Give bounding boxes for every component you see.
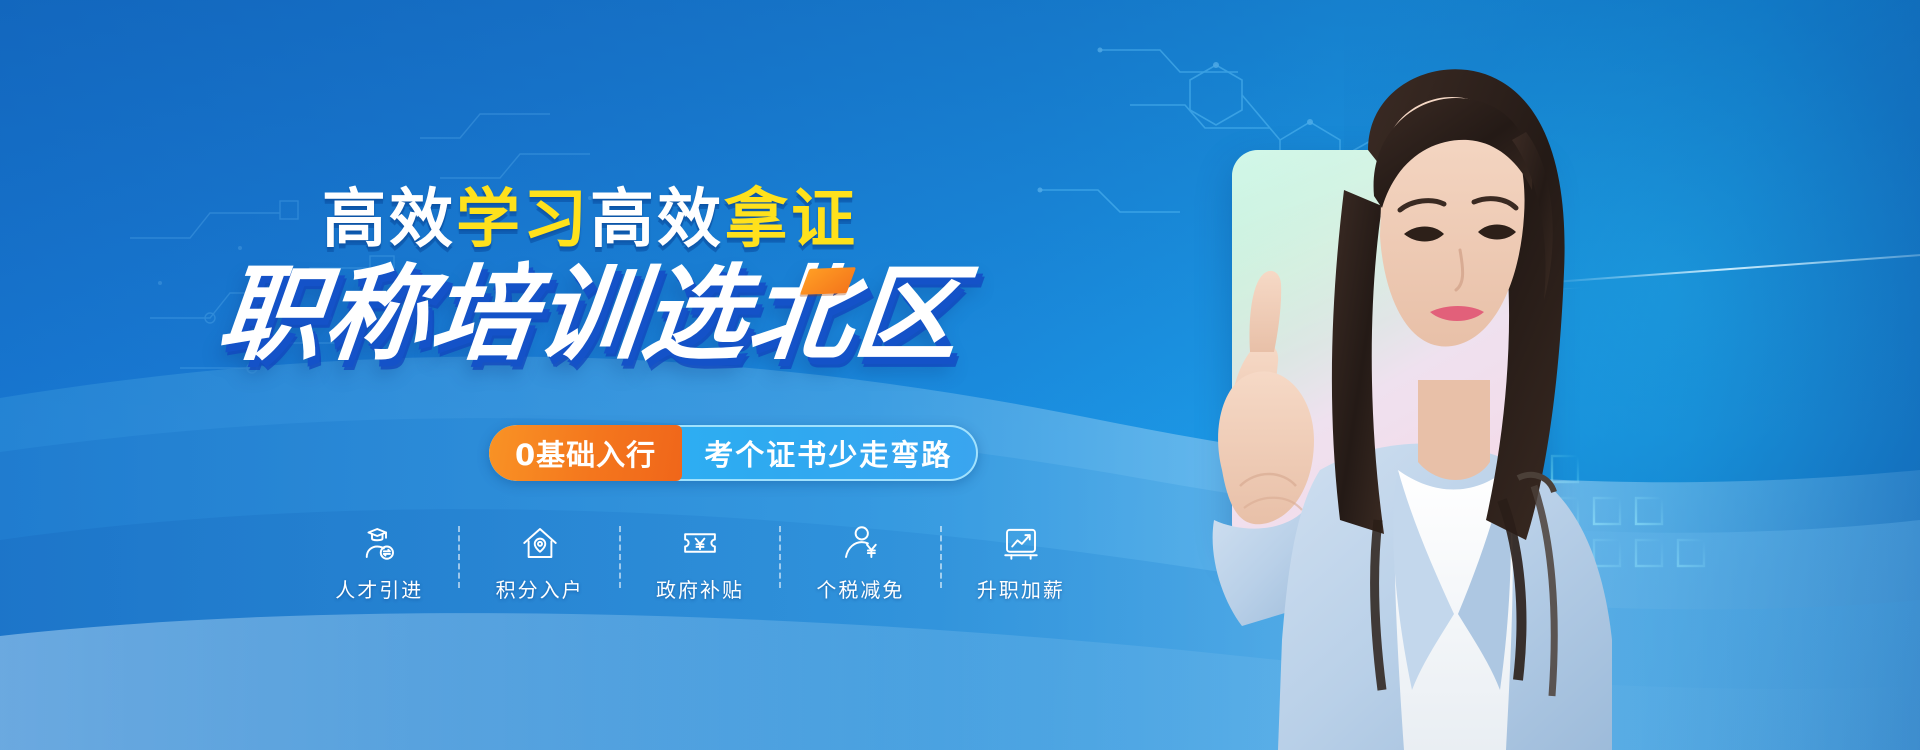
- badge-right-label: 考个证书少走弯路: [682, 425, 978, 481]
- coupon-yuan-icon: [679, 522, 721, 564]
- house-pin-icon: [519, 522, 561, 564]
- feature-label: 人才引进: [335, 574, 423, 603]
- feature-item-gov-subsidy[interactable]: 政府补贴: [621, 522, 779, 603]
- headline-seg-4: 拿证: [724, 183, 858, 257]
- feature-label: 政府补贴: [656, 574, 744, 603]
- chart-board-icon: [1000, 522, 1042, 564]
- feature-label: 积分入户: [496, 574, 584, 603]
- badge-left-label: 0基础入行: [489, 425, 682, 481]
- headline-line-1: 高效学习高效拿证: [0, 188, 1180, 252]
- headline-main-text: 职称培训选北区: [214, 262, 967, 366]
- feature-label: 个税减免: [816, 574, 904, 603]
- headline-seg-2: 学习: [456, 183, 590, 257]
- copy-block: 高效学习高效拿证 职称培训选北区 0基础入行 考个证书少走弯路: [0, 0, 1180, 750]
- promo-badge[interactable]: 0基础入行 考个证书少走弯路: [489, 425, 978, 481]
- headline-seg-3: 高效: [590, 183, 724, 257]
- feature-list: 人才引进 积分入户: [300, 522, 1100, 632]
- promo-banner: 高效学习高效拿证 职称培训选北区 0基础入行 考个证书少走弯路: [0, 0, 1920, 750]
- graduate-person-icon: [358, 522, 400, 564]
- feature-item-promotion-raise[interactable]: 升职加薪: [942, 522, 1100, 603]
- headline-line-2: 职称培训选北区: [0, 262, 1180, 366]
- feature-label: 升职加薪: [977, 574, 1065, 603]
- feature-item-talent-intro[interactable]: 人才引进: [300, 522, 458, 603]
- feature-item-tax-reduction[interactable]: 个税减免: [781, 522, 939, 603]
- person-yuan-icon: [839, 522, 881, 564]
- feature-item-points-hukou[interactable]: 积分入户: [460, 522, 618, 603]
- headline-seg-1: 高效: [322, 183, 456, 257]
